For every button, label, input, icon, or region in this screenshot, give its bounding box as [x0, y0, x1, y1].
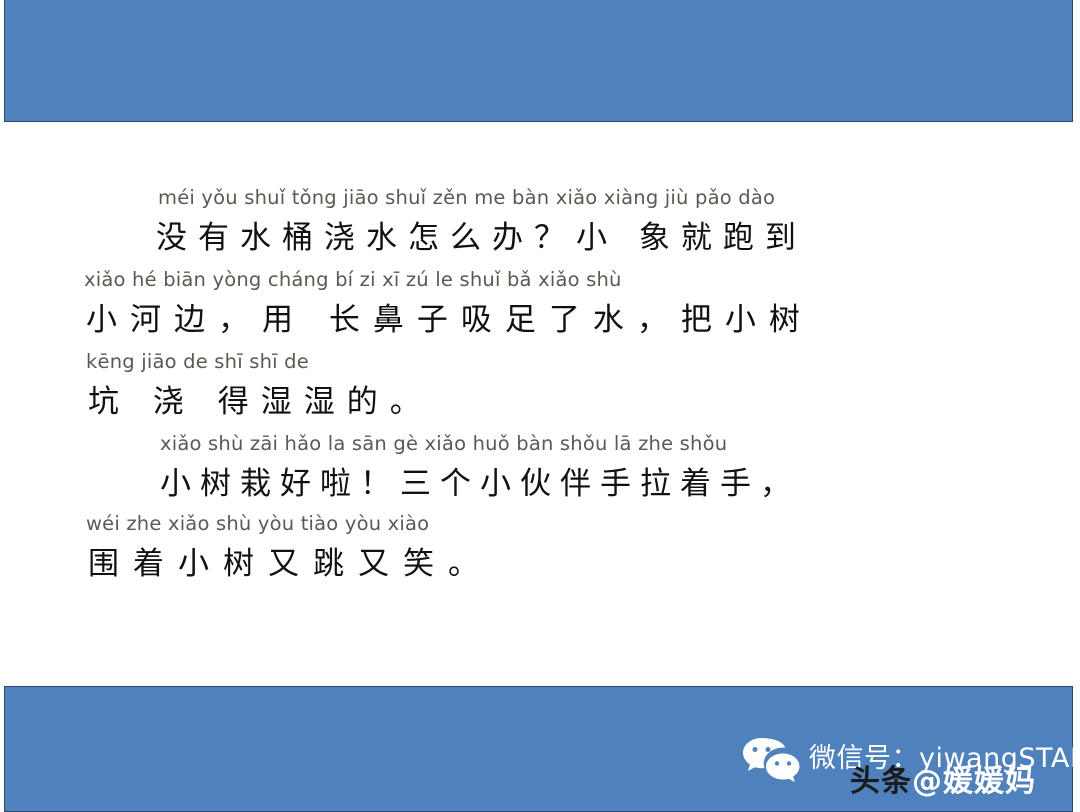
toutiao-label: 头条 — [850, 764, 912, 799]
pinyin-line: kēng jiāo de shī shī de — [86, 350, 309, 373]
hanzi-line: 没有水桶浇水怎么办？小 象就跑到 — [156, 212, 807, 257]
text-line: wéi zhe xiǎo shù yòu tiào yòu xiào 围着小树又… — [0, 512, 1080, 592]
slide-canvas: méi yǒu shuǐ tǒng jiāo shuǐ zěn me bàn x… — [0, 0, 1080, 810]
wechat-logo-icon — [741, 736, 803, 784]
pinyin-line: xiǎo shù zāi hǎo la sān gè xiǎo huǒ bàn … — [160, 432, 727, 455]
lesson-text-block: méi yǒu shuǐ tǒng jiāo shuǐ zěn me bàn x… — [0, 126, 1080, 686]
decorative-top-bar — [4, 0, 1073, 122]
text-line: xiǎo shù zāi hǎo la sān gè xiǎo huǒ bàn … — [0, 432, 1080, 512]
text-line: méi yǒu shuǐ tǒng jiāo shuǐ zěn me bàn x… — [0, 186, 1080, 266]
pinyin-line: xiǎo hé biān yòng cháng bí zi xī zú le s… — [84, 268, 622, 291]
hanzi-line: 小河边，用 长鼻子吸足了水，把小树 — [86, 294, 813, 339]
text-line: kēng jiāo de shī shī de 坑 浇 得湿湿的。 — [0, 350, 1080, 430]
text-line: xiǎo hé biān yòng cháng bí zi xī zú le s… — [0, 268, 1080, 348]
watermark: 微信号：yiwangSTAR 头条@媛媛妈 — [735, 730, 1075, 808]
pinyin-line: wéi zhe xiǎo shù yòu tiào yòu xiào — [86, 512, 429, 535]
hanzi-line: 围着小树又跳又笑。 — [88, 538, 493, 583]
hanzi-line: 小树栽好啦！三个小伙伴手拉着手， — [160, 458, 800, 503]
hanzi-line: 坑 浇 得湿湿的。 — [88, 376, 433, 421]
pinyin-line: méi yǒu shuǐ tǒng jiāo shuǐ zěn me bàn x… — [158, 186, 775, 209]
toutiao-account-overlay: 头条@媛媛妈 — [850, 756, 1036, 800]
toutiao-account: @媛媛妈 — [912, 764, 1036, 799]
